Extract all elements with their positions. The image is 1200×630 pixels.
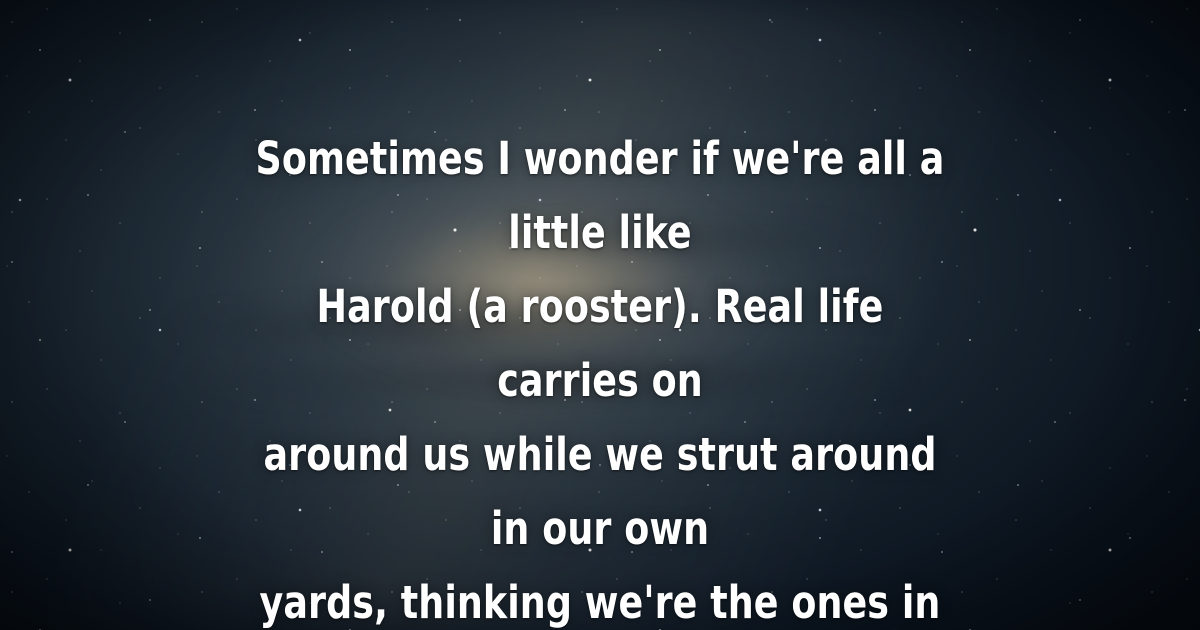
quote-text: Sometimes I wonder if we're all a little… <box>150 122 1050 630</box>
card-content: Sometimes I wonder if we're all a little… <box>0 0 1200 630</box>
quote-card: Sometimes I wonder if we're all a little… <box>0 0 1200 630</box>
